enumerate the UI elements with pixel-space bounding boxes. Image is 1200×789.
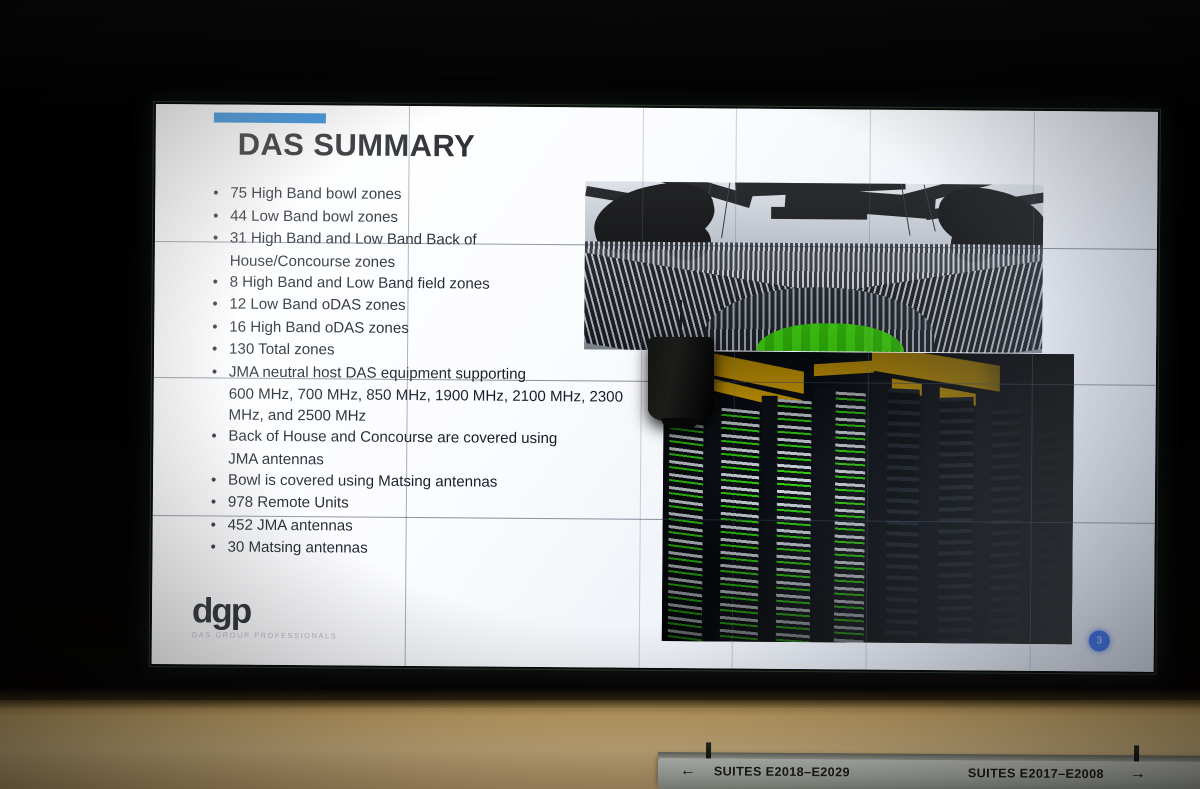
list-item: • 12 Low Band oDAS zones [208,293,638,317]
bullet-dot-icon: • [209,271,230,292]
bullet-list: • 75 High Band bowl zones • 44 Low Band … [206,182,639,562]
list-item: • 75 High Band bowl zones [209,182,639,206]
bullet-text: 30 Matsing antennas [227,537,367,559]
page-number-badge: 3 [1089,630,1110,651]
bullet-dot-icon: • [207,491,228,512]
wayfinding-sign: ← SUITES E2018–E2029 SUITES E2017–E2008 … [658,758,1200,789]
title-accent-bar [214,112,326,123]
bullet-text: JMA neutral host DAS equipment supportin… [229,361,526,384]
list-item: • 8 High Band and Low Band field zones [209,271,639,295]
bullet-text: 130 Total zones [229,339,335,361]
scene-root: DAS SUMMARY • 75 High Band bowl zones • … [0,0,1200,789]
bullet-dot-icon: • [209,205,230,226]
bullet-dot-icon: • [208,293,229,314]
hanging-speaker [648,337,714,423]
bullet-dot-icon: • [209,227,230,248]
bullet-dot-icon: • [208,316,229,337]
bullet-dot-icon: • [206,536,227,557]
sign-hanger [1134,745,1139,761]
bullet-text: 75 High Band bowl zones [230,183,401,205]
list-item: • 44 Low Band bowl zones [209,205,639,229]
bullet-text: 12 Low Band oDAS zones [229,294,405,316]
bullet-text: Bowl is covered using Matsing antennas [228,469,497,492]
logo-subtitle: DAS GROUP PROFESSIONALS [192,630,372,640]
list-item: • Bowl is covered using Matsing antennas [207,469,637,493]
list-item: • 978 Remote Units [207,491,637,515]
bullet-dot-icon: • [208,361,229,382]
sign-right-label: SUITES E2017–E2008 [968,766,1104,781]
dgp-logo: dgp DAS GROUP PROFESSIONALS [192,594,372,640]
list-item: • 130 Total zones [208,338,638,362]
logo-wordmark: dgp [192,594,250,628]
bullet-text: 44 Low Band bowl zones [230,205,398,227]
bullet-dot-icon: • [207,469,228,490]
list-item: • JMA neutral host DAS equipment support… [208,361,638,385]
bullet-dot-icon: • [207,425,228,446]
bullet-text: 16 High Band oDAS zones [229,316,409,338]
stadium-bowl-interior-image [584,181,1043,353]
page-title: DAS SUMMARY [238,127,476,165]
bullet-continuation: 600 MHz, 700 MHz, 850 MHz, 1900 MHz, 210… [207,383,637,428]
bullet-text: 31 High Band and Low Band Back of [230,228,477,251]
list-item: • Back of House and Concourse are covere… [207,425,637,449]
left-arrow-icon: ← [680,762,696,780]
list-item: • 16 High Band oDAS zones [208,316,638,340]
hanging-speaker-base [662,418,698,428]
bullet-dot-icon: • [208,338,229,359]
sign-left-label: SUITES E2018–E2029 [714,764,850,779]
list-item: • 31 High Band and Low Band Back of [209,227,639,251]
bullet-text: Back of House and Concourse are covered … [228,426,557,450]
speaker-mounting-rod [680,300,682,340]
right-arrow-icon: → [1130,765,1146,783]
logo-circle-icon [349,601,375,627]
sign-hanger [706,742,711,758]
bullet-dot-icon: • [207,514,228,535]
list-item: • 30 Matsing antennas [206,536,636,560]
bullet-dot-icon: • [209,182,230,203]
bullet-text: 978 Remote Units [228,492,349,514]
bullet-text: 8 High Band and Low Band field zones [230,271,490,294]
